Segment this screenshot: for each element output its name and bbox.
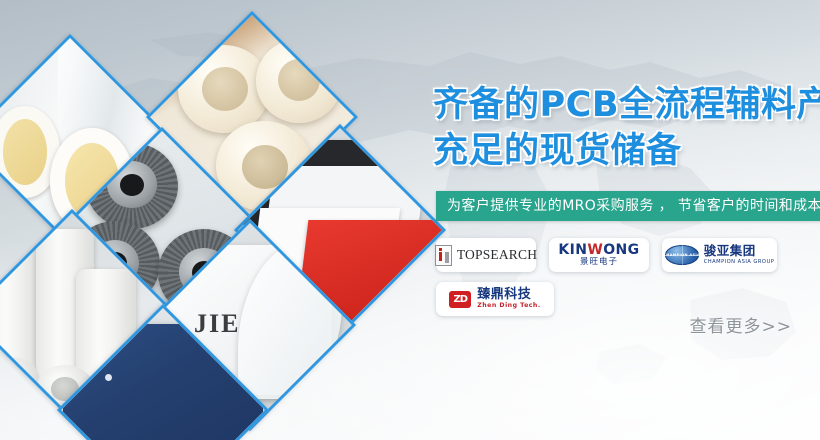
logo-kinwong-cn: 景旺电子	[580, 257, 618, 268]
view-more-link[interactable]: 查看更多>>	[690, 312, 793, 337]
globe-icon: CHAMPION ASIA	[665, 245, 699, 265]
logo-champion-asia-text: 骏亚集团 CHAMPION ASIA GROUP	[704, 245, 775, 265]
zhen-ding-mark-text: ZD	[454, 294, 468, 305]
logo-zhen-ding-cn: 臻鼎科技	[477, 288, 540, 301]
banner-content: 齐备的PCB全流程辅料产品、 充足的现货储备 为客户提供专业的MRO采购服务 ，…	[425, 0, 820, 440]
partner-logo-row-2: ZD 臻鼎科技 Zhen Ding Tech.	[436, 282, 820, 316]
partner-logo-row-1: TOPSEARCH KINWONG 景旺电子 CHAMPION ASIA 骏亚集…	[436, 238, 820, 272]
promo-banner: JIE 齐备的PCB全流程辅料产品、 充足的现货储备 为客户提供专业的MRO采购…	[0, 0, 820, 440]
headline-line-2: 充足的现货储备	[433, 128, 820, 174]
zhen-ding-mark-icon: ZD	[449, 291, 471, 308]
logo-zhen-ding[interactable]: ZD 臻鼎科技 Zhen Ding Tech.	[436, 282, 554, 316]
logo-topsearch-label: TOPSEARCH	[457, 247, 537, 263]
logo-champion-asia-cn: 骏亚集团	[704, 245, 775, 258]
headline-line-1: 齐备的PCB全流程辅料产品、	[433, 85, 820, 125]
logo-topsearch[interactable]: TOPSEARCH	[436, 238, 536, 272]
globe-icon-text: CHAMPION ASIA	[665, 253, 699, 257]
logo-champion-asia[interactable]: CHAMPION ASIA 骏亚集团 CHAMPION ASIA GROUP	[662, 238, 777, 272]
logo-kinwong[interactable]: KINWONG 景旺电子	[549, 238, 649, 272]
tile-release-paper-text: JIE	[194, 309, 240, 339]
logo-zhen-ding-text: 臻鼎科技 Zhen Ding Tech.	[477, 288, 540, 309]
logo-champion-asia-en: CHAMPION ASIA GROUP	[704, 260, 775, 265]
topsearch-mark-icon	[435, 245, 452, 266]
logo-kinwong-wordmark: KINWONG	[558, 243, 639, 257]
banner-subtitle-bar: 为客户提供专业的MRO采购服务 ， 节省客户的时间和成本	[436, 191, 820, 221]
product-tile-collage: JIE	[0, 0, 430, 440]
banner-headline: 齐备的PCB全流程辅料产品、 充足的现货储备	[433, 82, 820, 174]
logo-zhen-ding-en: Zhen Ding Tech.	[477, 303, 540, 309]
